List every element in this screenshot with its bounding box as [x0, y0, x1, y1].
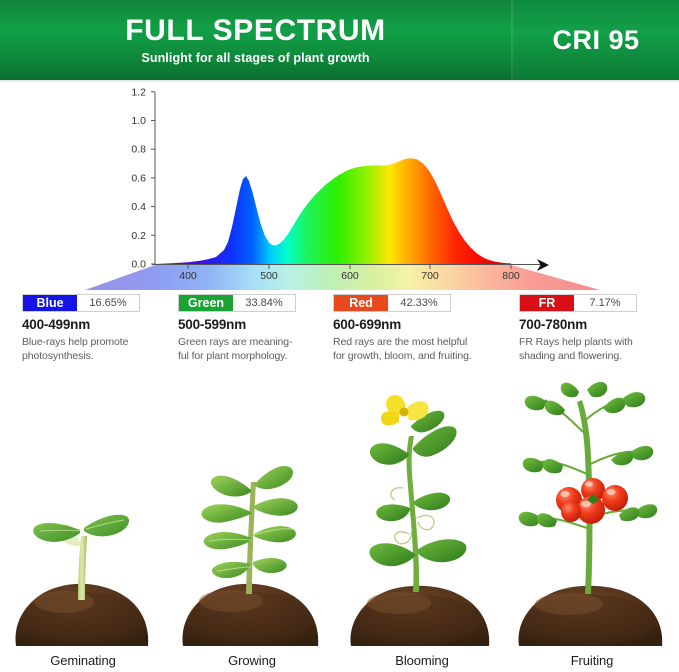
header-shadow	[0, 80, 679, 83]
spectrum-infographic: FULL SPECTRUM Sunlight for all stages of…	[0, 0, 679, 672]
stage-label-fruiting: Fruiting	[507, 653, 677, 668]
y-tick-label: 0.8	[131, 144, 146, 156]
stage-growing: Growing	[167, 372, 337, 672]
header-right-block: CRI 95	[513, 0, 679, 80]
leaf	[417, 539, 466, 562]
legend-desc-line: Blue-rays help promote	[22, 335, 182, 349]
x-tick-label: 500	[260, 270, 278, 282]
stage-label-blooming: Blooming	[337, 653, 507, 668]
leaf	[369, 543, 415, 566]
tomato	[561, 502, 581, 522]
header-banner: FULL SPECTRUM Sunlight for all stages of…	[0, 0, 679, 80]
band-legend: Blue 16.65% 400-499nm Blue-rays help pro…	[0, 294, 679, 368]
y-tick-label: 0.6	[131, 172, 146, 184]
tendril	[391, 488, 403, 500]
foliage	[369, 411, 466, 566]
legend-desc-line: photosynthesis.	[22, 349, 182, 363]
tomato-highlight	[581, 501, 591, 507]
legend-percent-fr: 7.17%	[574, 295, 636, 311]
tomato	[602, 485, 628, 511]
legend-item-red: Red 42.33% 600-699nm Red rays are the mo…	[333, 294, 509, 363]
leaf	[619, 507, 639, 521]
cri-badge: CRI 95	[552, 25, 639, 56]
leaf	[255, 466, 293, 489]
legend-item-green: Green 33.84% 500-599nm Green rays are me…	[178, 294, 338, 363]
tendril	[417, 516, 434, 530]
leaf	[201, 504, 251, 522]
tendril	[395, 532, 412, 544]
fruiting-plant-image	[507, 378, 677, 646]
leaf-right	[84, 515, 129, 537]
leaf	[561, 383, 579, 398]
legend-item-fr: FR 7.17% 700-780nm FR Rays help plants w…	[519, 294, 669, 363]
legend-desc-fr: FR Rays help plants with shading and flo…	[519, 335, 669, 363]
leaf	[376, 504, 410, 521]
young-plant-image	[167, 378, 337, 646]
legend-name-green: Green	[179, 295, 233, 311]
leaf	[523, 458, 545, 473]
page-title: FULL SPECTRUM	[125, 16, 386, 46]
legend-desc-line: for growth, bloom, and fruiting.	[333, 349, 509, 363]
leaf	[253, 558, 287, 573]
spectrum-chart-svg: 0.0 0.2 0.4 0.6 0.8 1.0 1.2 400 500 600	[0, 84, 679, 294]
leaf	[545, 401, 565, 416]
leaf	[211, 476, 251, 497]
legend-percent-blue: 16.65%	[77, 295, 139, 311]
legend-item-blue: Blue 16.65% 400-499nm Blue-rays help pro…	[22, 294, 182, 363]
flower-center	[400, 408, 409, 417]
spectrum-chart: 0.0 0.2 0.4 0.6 0.8 1.0 1.2 400 500 600	[0, 84, 679, 294]
legend-desc-blue: Blue-rays help promote photosynthesis.	[22, 335, 182, 363]
legend-range-blue: 400-499nm	[22, 317, 182, 332]
x-tick-label: 800	[502, 270, 520, 282]
growth-stages: Geminating	[0, 372, 679, 672]
flowering-plant-image	[337, 378, 507, 646]
leaf	[587, 382, 607, 397]
legend-desc-line: Green rays are meaning-	[178, 335, 338, 349]
legend-desc-line: shading and flowering.	[519, 349, 669, 363]
leaf	[537, 513, 557, 527]
legend-desc-green: Green rays are meaning- ful for plant mo…	[178, 335, 338, 363]
legend-chip-red: Red 42.33%	[333, 294, 451, 312]
soil-highlight	[367, 592, 431, 614]
leaf	[212, 562, 250, 578]
legend-percent-red: 42.33%	[388, 295, 450, 311]
flower-petal	[381, 411, 399, 425]
legend-name-fr: FR	[520, 295, 574, 311]
legend-desc-line: ful for plant morphology.	[178, 349, 338, 363]
tomato-highlight	[607, 489, 616, 495]
header-left-block: FULL SPECTRUM Sunlight for all stages of…	[0, 0, 511, 80]
y-tick-label: 0.0	[131, 259, 146, 271]
stem	[407, 436, 420, 592]
spd-curve	[155, 158, 511, 264]
tomato-highlight	[561, 491, 570, 497]
stage-fruiting: Fruiting	[507, 372, 677, 672]
tomato-highlight	[585, 481, 593, 486]
stage-geminating: Geminating	[0, 372, 168, 672]
legend-desc-line: FR Rays help plants with	[519, 335, 669, 349]
y-tick-label: 0.4	[131, 201, 146, 213]
y-tick-label: 0.2	[131, 230, 146, 242]
legend-percent-green: 33.84%	[233, 295, 295, 311]
seedling-image	[0, 378, 168, 646]
y-tick-label: 1.0	[131, 115, 146, 127]
stage-label-geminating: Geminating	[0, 653, 168, 668]
legend-chip-fr: FR 7.17%	[519, 294, 637, 312]
leaf	[254, 498, 298, 515]
leaf	[603, 398, 625, 414]
leaf	[611, 451, 633, 465]
x-tick-label: 400	[179, 270, 197, 282]
legend-desc-red: Red rays are the most helpful for growth…	[333, 335, 509, 363]
y-ticks: 0.0 0.2 0.4 0.6 0.8 1.0 1.2	[131, 86, 155, 270]
legend-name-blue: Blue	[23, 295, 77, 311]
leaf	[370, 443, 409, 465]
legend-chip-green: Green 33.84%	[178, 294, 296, 312]
soil-highlight	[199, 590, 263, 612]
soil-highlight	[535, 593, 603, 615]
x-tick-label: 600	[341, 270, 359, 282]
legend-name-red: Red	[334, 295, 388, 311]
y-tick-label: 1.2	[131, 86, 146, 98]
legend-desc-line: Red rays are the most helpful	[333, 335, 509, 349]
x-tick-label: 700	[421, 270, 439, 282]
legend-range-green: 500-599nm	[178, 317, 338, 332]
leaf	[543, 459, 563, 473]
leaf	[413, 493, 450, 511]
legend-chip-blue: Blue 16.65%	[22, 294, 140, 312]
legend-range-red: 600-699nm	[333, 317, 509, 332]
stage-label-growing: Growing	[167, 653, 337, 668]
page-subtitle: Sunlight for all stages of plant growth	[141, 51, 369, 65]
leaf	[525, 396, 547, 411]
legend-range-fr: 700-780nm	[519, 317, 669, 332]
tomato-cluster	[556, 478, 628, 524]
stage-blooming: Blooming	[337, 372, 507, 672]
